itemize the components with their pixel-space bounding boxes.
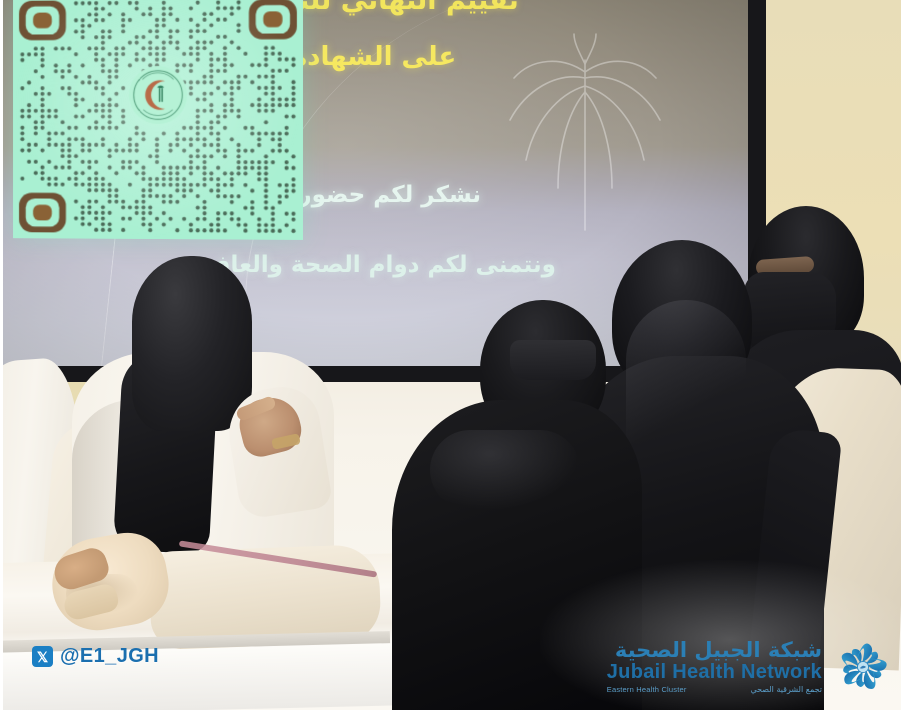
social-handle-text: @E1_JGH	[60, 645, 159, 668]
brand-name-arabic: شبكة الجبيل الصحية	[607, 640, 822, 661]
brand-subtitle-row: Eastern Health Cluster تجمع الشرقية الصح…	[607, 686, 822, 694]
brand-lockup: شبكة الجبيل الصحية Jubail Health Network…	[607, 636, 894, 698]
qr-code	[13, 0, 303, 240]
brand-subtitle-english: Eastern Health Cluster	[607, 686, 687, 694]
moh-logo-icon	[129, 66, 187, 124]
photo-border-left	[0, 0, 3, 710]
brand-name-english: Jubail Health Network	[607, 662, 822, 682]
five-point-star-flower-logo-icon	[832, 636, 894, 698]
instructor-hijab	[132, 256, 252, 431]
attendee-front-left-highlight	[430, 430, 580, 510]
attendee-center-highlight	[626, 300, 746, 470]
brand-subtitle-arabic: تجمع الشرقية الصحي	[750, 686, 822, 694]
x-twitter-icon: 𝕏	[32, 646, 53, 667]
photograph: تقييم النهائي للتدريب على الشهادة نشكر ل…	[0, 0, 904, 710]
attendee-front-left-veil	[510, 340, 596, 380]
brand-text-block: شبكة الجبيل الصحية Jubail Health Network…	[607, 640, 822, 694]
social-handle: 𝕏 @E1_JGH	[32, 645, 159, 668]
